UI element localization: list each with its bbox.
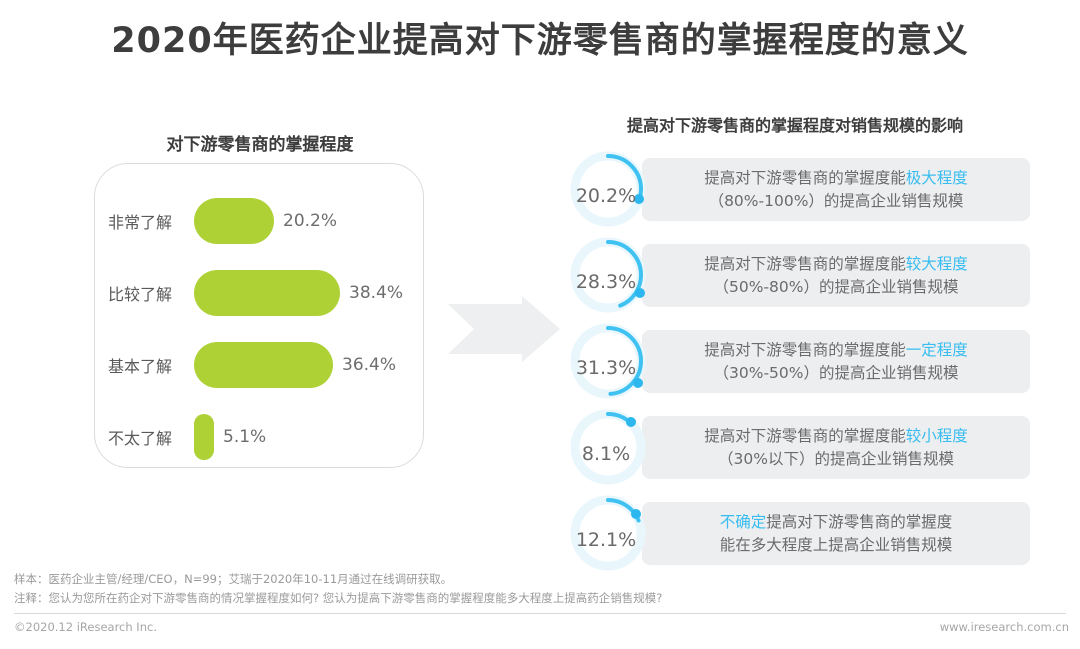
bar-track: 38.4% — [194, 257, 408, 329]
stat-line1-highlight: 不确定 — [720, 513, 767, 531]
donut-gauge: 28.3% — [560, 238, 656, 313]
bar-fill — [194, 270, 340, 316]
bar-row: 比较了解 38.4% — [108, 257, 408, 329]
stat-line-2: （50%-80%）的提高企业销售规模 — [654, 276, 1018, 298]
right-arrow-icon — [448, 296, 560, 362]
donut-gauge: 20.2% — [560, 152, 656, 227]
stat-line-1: 提高对下游零售商的掌握度能极大程度 — [654, 167, 1018, 189]
stat-row: 8.1% 提高对下游零售商的掌握度能较小程度 （30%以下）的提高企业销售规模 — [560, 410, 1030, 485]
stat-line1-highlight: 较大程度 — [906, 255, 968, 273]
stat-line1-pre: 提高对下游零售商的掌握度能 — [704, 255, 906, 273]
left-chart-panel: 对下游零售商的掌握程度 非常了解 20.2% 比较了解 38.4% 基本了解 — [60, 130, 460, 490]
copyright-text: ©2020.12 iResearch Inc. — [14, 620, 157, 634]
stat-line1-post: 提高对下游零售商的掌握度 — [766, 513, 952, 531]
bar-chart: 非常了解 20.2% 比较了解 38.4% 基本了解 36.4% — [108, 185, 408, 473]
bar-fill — [194, 342, 333, 388]
bar-label: 基本了解 — [108, 353, 194, 377]
donut-gauge: 31.3% — [560, 324, 656, 399]
stat-percent: 20.2% — [576, 185, 636, 207]
stat-percent: 12.1% — [576, 529, 636, 551]
bar-fill — [194, 198, 274, 244]
footer-divider — [14, 613, 1066, 614]
bar-track: 36.4% — [194, 329, 408, 401]
stat-description: 提高对下游零售商的掌握度能一定程度 （30%-50%）的提高企业销售规模 — [642, 330, 1030, 393]
slide-root: 2020年医药企业提高对下游零售商的掌握程度的意义 对下游零售商的掌握程度 非常… — [0, 0, 1080, 649]
right-stats-panel: 提高对下游零售商的掌握程度对销售规模的影响 20.2% 提高对下游零售商的掌握度… — [560, 112, 1030, 582]
stat-line-2: 能在多大程度上提高企业销售规模 — [654, 534, 1018, 556]
left-chart-title: 对下游零售商的掌握程度 — [60, 130, 460, 155]
stat-description: 提高对下游零售商的掌握度能极大程度 （80%-100%）的提高企业销售规模 — [642, 158, 1030, 221]
bar-value: 38.4% — [349, 283, 403, 303]
page-title: 2020年医药企业提高对下游零售商的掌握程度的意义 — [0, 12, 1080, 63]
footer-bottom: ©2020.12 iResearch Inc. www.iresearch.co… — [14, 620, 1069, 634]
stat-description: 提高对下游零售商的掌握度能较大程度 （50%-80%）的提高企业销售规模 — [642, 244, 1030, 307]
stat-line1-pre: 提高对下游零售商的掌握度能 — [704, 169, 906, 187]
bar-value: 5.1% — [223, 427, 266, 447]
stat-percent: 8.1% — [582, 443, 630, 465]
bar-label: 比较了解 — [108, 281, 194, 305]
stat-description: 不确定提高对下游零售商的掌握度 能在多大程度上提高企业销售规模 — [642, 502, 1030, 565]
bar-row: 不太了解 5.1% — [108, 401, 408, 473]
stat-percent: 31.3% — [576, 357, 636, 379]
stat-row: 31.3% 提高对下游零售商的掌握度能一定程度 （30%-50%）的提高企业销售… — [560, 324, 1030, 399]
bar-track: 5.1% — [194, 401, 408, 473]
bar-track: 20.2% — [194, 185, 408, 257]
bar-label: 不太了解 — [108, 425, 194, 449]
stat-line-1: 提高对下游零售商的掌握度能较大程度 — [654, 253, 1018, 275]
bar-value: 36.4% — [342, 355, 396, 375]
stat-line-1: 提高对下游零售商的掌握度能一定程度 — [654, 339, 1018, 361]
stat-line-2: （30%以下）的提高企业销售规模 — [654, 448, 1018, 470]
stat-line1-highlight: 较小程度 — [906, 427, 968, 445]
stat-row: 20.2% 提高对下游零售商的掌握度能极大程度 （80%-100%）的提高企业销… — [560, 152, 1030, 227]
footer-sample-note: 样本：医药企业主管/经理/CEO，N=99；艾瑞于2020年10-11月通过在线… — [14, 570, 1069, 589]
footer: 样本：医药企业主管/经理/CEO，N=99；艾瑞于2020年10-11月通过在线… — [14, 570, 1069, 634]
stat-line-2: （80%-100%）的提高企业销售规模 — [654, 190, 1018, 212]
stat-line-1: 提高对下游零售商的掌握度能较小程度 — [654, 425, 1018, 447]
stat-line-1: 不确定提高对下游零售商的掌握度 — [654, 511, 1018, 533]
bar-row: 基本了解 36.4% — [108, 329, 408, 401]
right-panel-title: 提高对下游零售商的掌握程度对销售规模的影响 — [560, 112, 1030, 136]
stat-line1-highlight: 极大程度 — [906, 169, 968, 187]
stat-row: 12.1% 不确定提高对下游零售商的掌握度 能在多大程度上提高企业销售规模 — [560, 496, 1030, 571]
footer-question-note: 注释：您认为您所在药企对下游零售商的情况掌握程度如何? 您认为提高下游零售商的掌… — [14, 589, 1069, 608]
donut-gauge: 12.1% — [560, 496, 656, 571]
bar-label: 非常了解 — [108, 209, 194, 233]
stat-line1-pre: 提高对下游零售商的掌握度能 — [704, 427, 906, 445]
stat-percent: 28.3% — [576, 271, 636, 293]
website-url: www.iresearch.com.cn — [940, 620, 1069, 634]
stat-line1-pre: 提高对下游零售商的掌握度能 — [704, 341, 906, 359]
stat-line-2: （30%-50%）的提高企业销售规模 — [654, 362, 1018, 384]
stat-description: 提高对下游零售商的掌握度能较小程度 （30%以下）的提高企业销售规模 — [642, 416, 1030, 479]
stat-line1-highlight: 一定程度 — [906, 341, 968, 359]
bar-value: 20.2% — [283, 211, 337, 231]
donut-gauge: 8.1% — [560, 410, 656, 485]
stat-row: 28.3% 提高对下游零售商的掌握度能较大程度 （50%-80%）的提高企业销售… — [560, 238, 1030, 313]
bar-row: 非常了解 20.2% — [108, 185, 408, 257]
bar-fill — [194, 414, 214, 460]
